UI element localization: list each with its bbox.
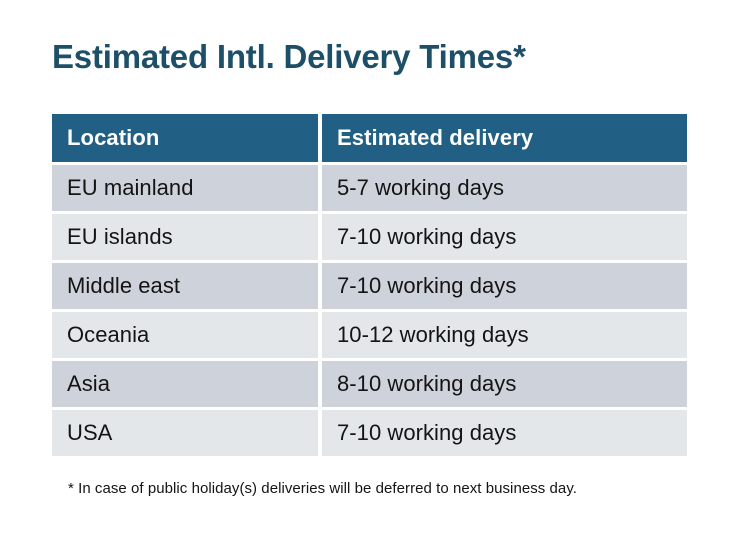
column-header-estimated-delivery: Estimated delivery bbox=[322, 114, 687, 162]
table-row: USA 7-10 working days bbox=[52, 410, 687, 456]
cell-location: USA bbox=[52, 410, 318, 456]
cell-location: Asia bbox=[52, 361, 318, 407]
cell-delivery: 7-10 working days bbox=[322, 410, 687, 456]
footnote-text: * In case of public holiday(s) deliverie… bbox=[68, 479, 577, 499]
cell-location: Middle east bbox=[52, 263, 318, 309]
cell-location: EU mainland bbox=[52, 165, 318, 211]
delivery-times-page: Estimated Intl. Delivery Times* Location… bbox=[0, 0, 745, 536]
page-title: Estimated Intl. Delivery Times* bbox=[52, 36, 526, 78]
table-row: Oceania 10-12 working days bbox=[52, 312, 687, 358]
table-header: Location Estimated delivery bbox=[52, 114, 687, 162]
table-body: EU mainland 5-7 working days EU islands … bbox=[52, 165, 687, 456]
cell-location: Oceania bbox=[52, 312, 318, 358]
cell-delivery: 10-12 working days bbox=[322, 312, 687, 358]
column-header-location: Location bbox=[52, 114, 318, 162]
cell-location: EU islands bbox=[52, 214, 318, 260]
cell-delivery: 7-10 working days bbox=[322, 214, 687, 260]
cell-delivery: 7-10 working days bbox=[322, 263, 687, 309]
table-row: Middle east 7-10 working days bbox=[52, 263, 687, 309]
table-row: EU mainland 5-7 working days bbox=[52, 165, 687, 211]
table-header-row: Location Estimated delivery bbox=[52, 114, 687, 162]
table-row: EU islands 7-10 working days bbox=[52, 214, 687, 260]
cell-delivery: 8-10 working days bbox=[322, 361, 687, 407]
table-row: Asia 8-10 working days bbox=[52, 361, 687, 407]
estimated-delivery-table: Location Estimated delivery EU mainland … bbox=[48, 111, 691, 459]
cell-delivery: 5-7 working days bbox=[322, 165, 687, 211]
